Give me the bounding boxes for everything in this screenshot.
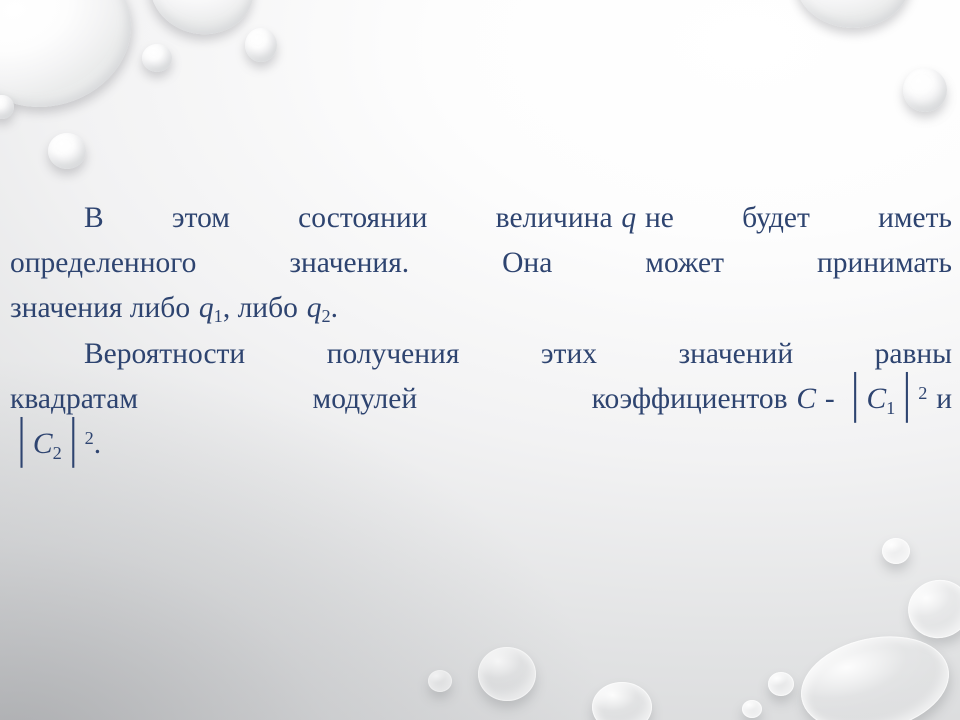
p2-C2-subscript: 2 (53, 443, 62, 463)
paragraph-2: Вероятности получения этих значений равн… (10, 332, 952, 466)
droplet-small-top-center (142, 44, 172, 72)
p1-l1-text-b: не будет иметь (645, 202, 952, 234)
modulus-bar-close-icon-2: │ (63, 411, 84, 475)
droplet-bottom-tiny-a (768, 672, 794, 696)
droplet-bottom-center-med (478, 647, 536, 701)
droplet-bottom-tiny-b (742, 700, 762, 718)
droplet-tiny-left-edge (0, 95, 14, 119)
droplet-top-right-small (903, 68, 947, 112)
droplet-bottom-center-right (592, 682, 652, 720)
droplet-top-left-upper (142, 0, 263, 44)
modulus-bar-open-icon-2: │ (11, 411, 32, 475)
p1-q2-base: q (307, 292, 322, 324)
modulus-C2-squared: │C2│2 (10, 428, 94, 460)
p1-variable-q2: q2 (307, 292, 331, 324)
p1-l3-text-a: значения либо (10, 292, 190, 324)
modulus-C1-squared: │C1│2 (844, 383, 928, 415)
paragraph-1-line-1: В этом состоянии величинаqне будет иметь (10, 196, 952, 241)
p2-variable-C2: C2 (33, 428, 62, 460)
p1-q2-subscript: 2 (321, 306, 330, 326)
p1-q1-subscript: 1 (214, 306, 223, 326)
p1-variable-q: q (621, 202, 636, 234)
p2-l2-conjunction: и (936, 383, 952, 415)
p2-C1-base: C (866, 383, 886, 415)
p2-l2-text-a: квадратам модулей коэффициентов (10, 383, 788, 415)
p2-variable-C1: C1 (866, 383, 895, 415)
p2-C2-superscript: 2 (85, 428, 94, 448)
p2-variable-C: C (796, 383, 816, 415)
droplet-bottom-center-small (428, 670, 452, 692)
paragraph-1-line-2: определенного значения. Она может приним… (10, 241, 952, 286)
p1-l1-text-a: В этом состоянии величина (84, 202, 613, 234)
p2-C1-superscript: 2 (918, 383, 927, 403)
droplet-bottom-right-small (882, 538, 910, 564)
modulus-bar-close-icon: │ (896, 366, 917, 430)
p1-l3-period: . (331, 292, 338, 324)
p2-l1-text: Вероятности получения этих значений равн… (84, 338, 952, 370)
slide-text-body: В этом состоянии величинаqне будет иметь… (0, 196, 960, 467)
p2-C2-base: C (33, 428, 53, 460)
droplet-small-left-mid (48, 133, 86, 169)
p2-l2-dash: - (825, 383, 835, 415)
paragraph-2-line-1: Вероятности получения этих значений равн… (10, 332, 952, 377)
p1-q1-base: q (199, 292, 214, 324)
p1-l2-text: определенного значения. Она может приним… (10, 247, 952, 279)
droplet-top-right-large (795, 0, 911, 28)
modulus-bar-open-icon: │ (845, 366, 866, 430)
paragraph-1: В этом состоянии величинаqне будет иметь… (10, 196, 952, 330)
paragraph-1-line-3: значения либоq1, либоq2. (10, 286, 952, 331)
droplet-bottom-right-blob (792, 623, 958, 720)
droplet-large-top-left (0, 0, 149, 127)
paragraph-2-line-3: │C2│2. (10, 422, 952, 467)
p1-l3-text-b: , либо (223, 292, 298, 324)
droplet-bottom-right-medium (902, 573, 960, 644)
droplet-top-center-right (245, 28, 277, 62)
slide-canvas: В этом состоянии величинаqне будет иметь… (0, 0, 960, 720)
paragraph-2-line-2: квадратам модулей коэффициентовC-│C1│2и (10, 377, 952, 422)
p2-C1-subscript: 1 (886, 398, 895, 418)
p1-variable-q1: q1 (199, 292, 223, 324)
p2-l3-period: . (94, 428, 101, 460)
